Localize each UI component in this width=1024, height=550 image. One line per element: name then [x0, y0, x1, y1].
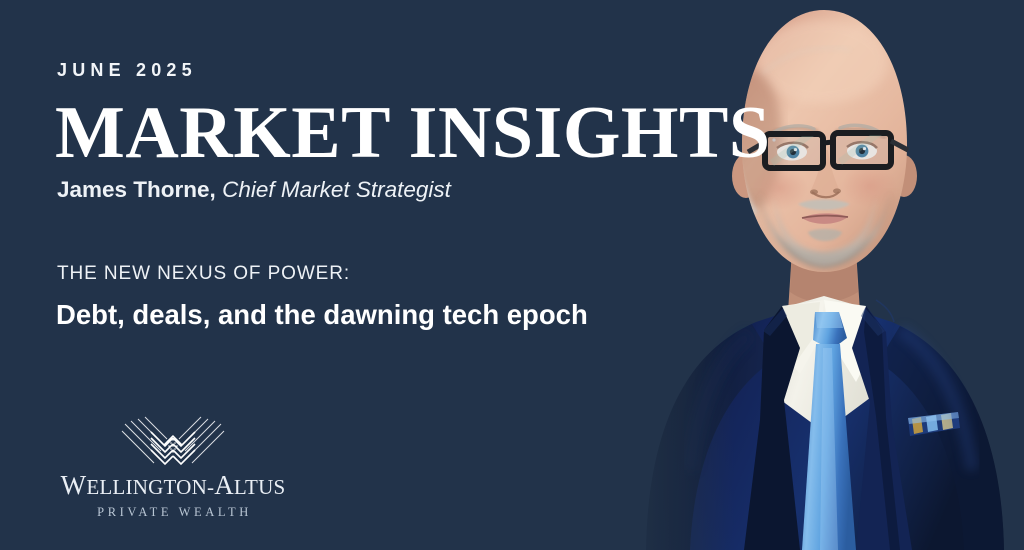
market-insights-banner: JUNE 2025 MARKET INSIGHTS James Thorne, … — [0, 0, 1024, 550]
brand-wordmark: WELLINGTON-ALTUS — [57, 472, 289, 499]
brand-logo-lockup: WELLINGTON-ALTUS PRIVATE WEALTH — [57, 414, 289, 519]
wordmark-cap-w: W — [61, 470, 87, 500]
wordmark-ellington: ELLINGTON — [86, 475, 207, 499]
brand-tagline: PRIVATE WEALTH — [57, 506, 289, 519]
author-name: James Thorne, — [57, 177, 216, 202]
portrait-illustration — [624, 0, 1024, 550]
byline: James Thorne, Chief Market Strategist — [57, 176, 451, 203]
article-subhead: Debt, deals, and the dawning tech epoch — [56, 299, 588, 331]
wordmark-ltus: LTUS — [234, 475, 285, 499]
wordmark-cap-a: A — [214, 470, 234, 500]
wellington-altus-w-chevron-icon — [121, 414, 225, 470]
portrait-photo — [624, 0, 1024, 550]
issue-date: JUNE 2025 — [57, 61, 197, 79]
article-kicker: THE NEW NEXUS OF POWER: — [57, 264, 350, 283]
page-title: MARKET INSIGHTS — [55, 95, 771, 173]
author-title: Chief Market Strategist — [222, 177, 451, 202]
